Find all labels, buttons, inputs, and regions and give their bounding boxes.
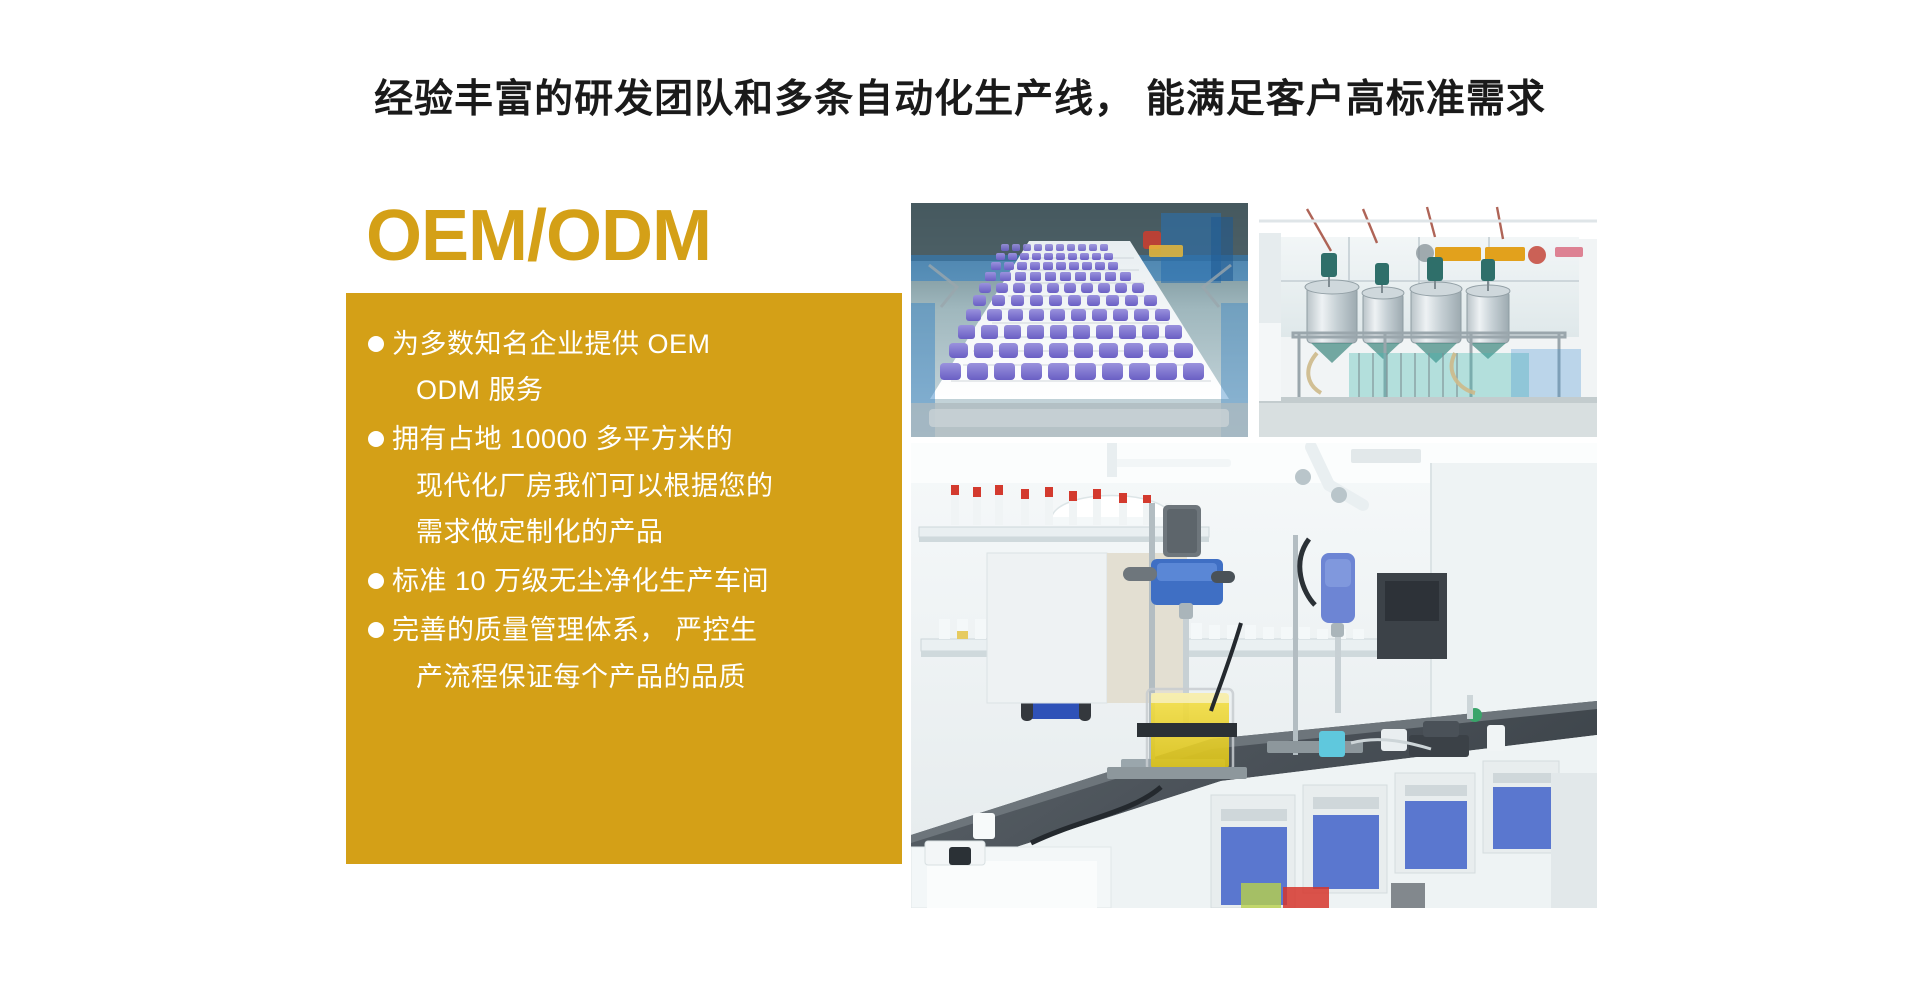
bullet-line-1: 标准 10 万级无尘净化生产车间 [392, 566, 769, 596]
bullet-dot-icon [368, 431, 384, 447]
bullet-dot-icon [368, 573, 384, 589]
list-item: 为多数知名企业提供 OEM ODM 服务 [368, 321, 880, 414]
bullet-dot-icon [368, 336, 384, 352]
features-panel: 为多数知名企业提供 OEM ODM 服务 拥有占地 10000 多平方米的 现代… [346, 293, 902, 864]
bullet-line-2: ODM 服务 [392, 367, 880, 414]
left-column: OEM/ODM 为多数知名企业提供 OEM ODM 服务 拥有占地 10000 … [346, 196, 902, 864]
bullet-dot-icon [368, 622, 384, 638]
bullet-line-3: 需求做定制化的产品 [392, 509, 880, 556]
bullet-line-2: 现代化厂房我们可以根据您的 [392, 463, 880, 510]
page-headline: 经验丰富的研发团队和多条自动化生产线， 能满足客户高标准需求 [0, 68, 1920, 124]
bullet-line-1: 拥有占地 10000 多平方米的 [392, 424, 733, 454]
bullet-text: 完善的质量管理体系， 严控生 产流程保证每个产品的品质 [392, 607, 880, 700]
photo-conveyor-belt-detergent-pods [911, 203, 1248, 437]
bullet-text: 标准 10 万级无尘净化生产车间 [392, 558, 880, 605]
oem-odm-banner: 经验丰富的研发团队和多条自动化生产线， 能满足客户高标准需求 OEM/ODM 为… [0, 0, 1920, 989]
bullet-line-1: 完善的质量管理体系， 严控生 [392, 615, 758, 645]
bullet-line-1: 为多数知名企业提供 OEM [392, 329, 711, 359]
feature-bullet-list: 为多数知名企业提供 OEM ODM 服务 拥有占地 10000 多平方米的 现代… [368, 321, 880, 701]
photo-stainless-steel-mixing-tanks [1259, 203, 1597, 437]
bullet-text: 为多数知名企业提供 OEM ODM 服务 [392, 321, 880, 414]
list-item: 完善的质量管理体系， 严控生 产流程保证每个产品的品质 [368, 607, 880, 700]
bullet-line-2: 产流程保证每个产品的品质 [392, 654, 880, 701]
list-item: 拥有占地 10000 多平方米的 现代化厂房我们可以根据您的 需求做定制化的产品 [368, 416, 880, 556]
photo-laboratory-workbench [911, 443, 1597, 908]
bullet-text: 拥有占地 10000 多平方米的 现代化厂房我们可以根据您的 需求做定制化的产品 [392, 416, 880, 556]
photo-grid [911, 203, 1597, 908]
list-item: 标准 10 万级无尘净化生产车间 [368, 558, 880, 605]
brand-title: OEM/ODM [346, 196, 902, 277]
